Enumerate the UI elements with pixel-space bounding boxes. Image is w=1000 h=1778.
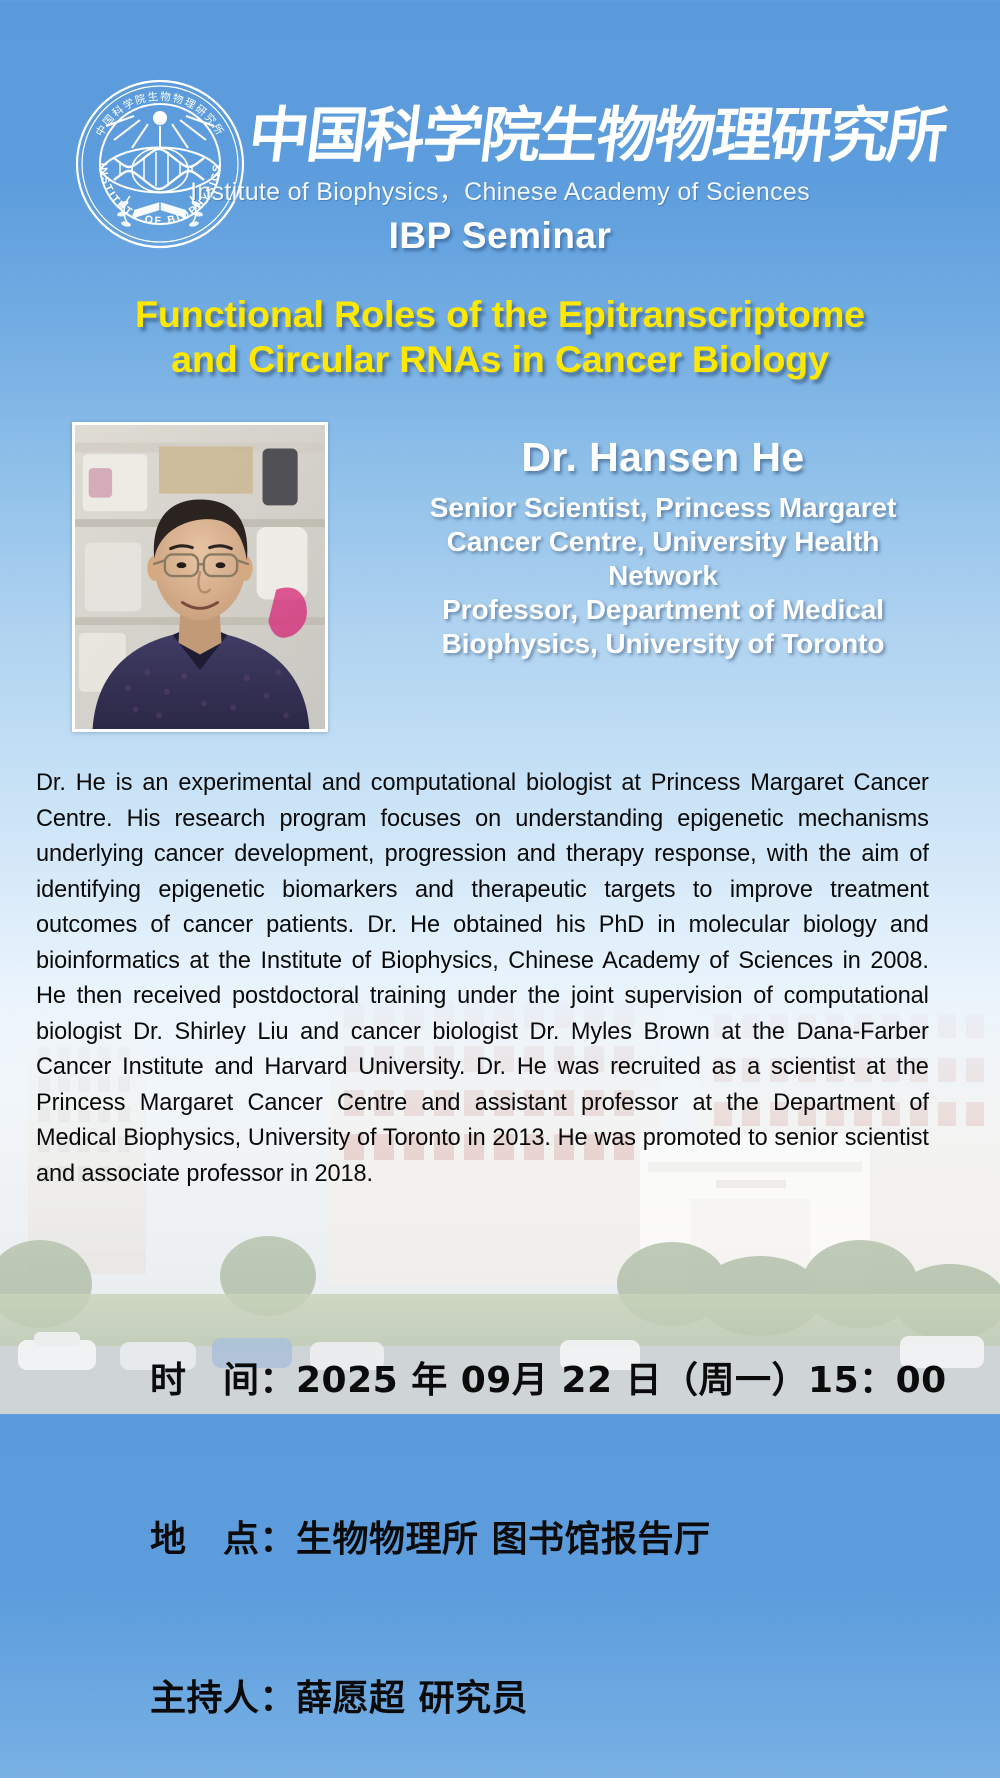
institute-name-cn-text: 中国科学院生物物理研究所 [252,100,950,171]
talk-title-line-1: Functional Roles of the Epitranscriptome [21,292,980,337]
affiliation-line-2: Cancer Centre, University Health [348,525,978,559]
institute-name-en: Institute of Biophysics，Chinese Academy … [0,172,1000,208]
affiliation-line-4: Professor, Department of Medical [348,593,978,627]
speaker-name: Dr. Hansen He [348,430,978,484]
speaker-affiliation: Senior Scientist, Princess Margaret Canc… [348,491,978,661]
institute-name-cn: 中国科学院生物物理研究所 [252,96,952,174]
event-time: 时 间：2025 年 09月 22 日（周一）15：00 [150,1354,970,1407]
talk-title: Functional Roles of the Epitranscriptome… [21,292,980,382]
speaker-portrait [72,422,328,732]
speaker-bio: Dr. He is an experimental and computatio… [36,765,929,1191]
talk-title-line-2: and Circular RNAs in Cancer Biology [21,337,980,382]
event-place: 地 点：生物物理所 图书馆报告厅 [150,1513,970,1566]
affiliation-line-1: Senior Scientist, Princess Margaret [348,491,978,525]
speaker-info: Dr. Hansen He Senior Scientist, Princess… [348,430,978,661]
affiliation-line-3: Network [348,559,978,593]
seminar-series-title: IBP Seminar [0,215,1000,257]
poster-header: 中国科学院生物物理研究所 INSTITUTE OF BIOPHYSICS 中国科… [0,0,1000,275]
event-details: 时 间：2025 年 09月 22 日（周一）15：00 地 点：生物物理所 图… [150,1248,970,1778]
event-host: 主持人：薛愿超 研究员 [150,1672,970,1725]
affiliation-line-5: Biophysics, University of Toronto [348,627,978,661]
